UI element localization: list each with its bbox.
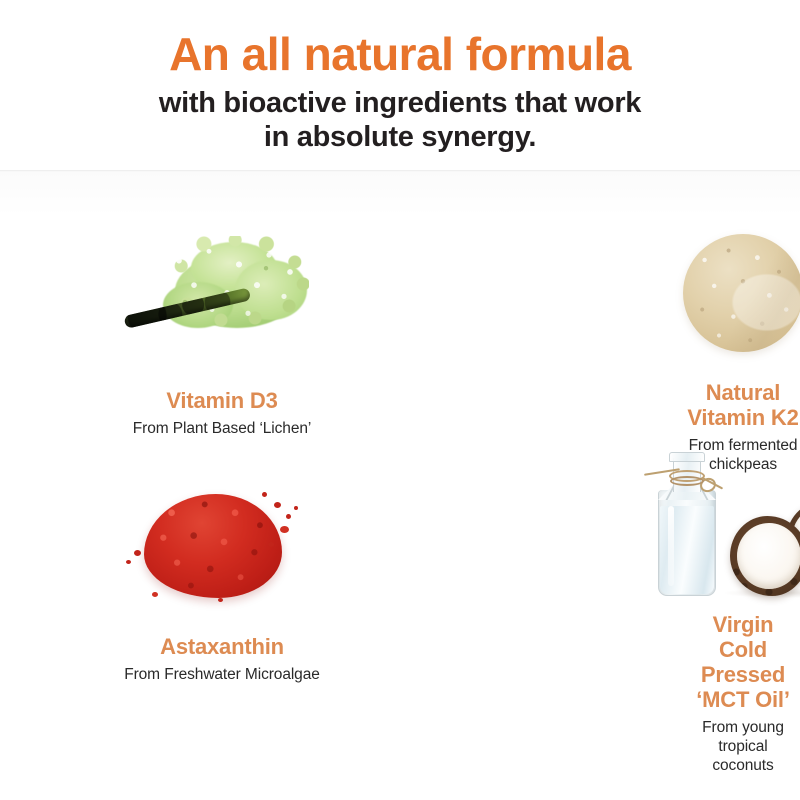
header-section: An all natural formula with bioactive in… bbox=[0, 0, 800, 170]
page-subtitle-line-1: with bioactive ingredients that work bbox=[0, 86, 800, 120]
ingredient-caption: From Freshwater Microalgae bbox=[124, 666, 320, 685]
ingredient-title-line-1: Virgin Cold bbox=[686, 612, 800, 662]
astaxanthin-powder-icon bbox=[117, 472, 327, 612]
ingredient-card-astaxanthin: Astaxanthin From Freshwater Microalgae bbox=[0, 432, 400, 682]
ingredient-caption: From young tropical coconuts bbox=[686, 719, 800, 775]
page-title: An all natural formula bbox=[0, 30, 800, 80]
ingredient-title: Natural Vitamin K2 bbox=[686, 380, 800, 430]
page-subtitle: with bioactive ingredients that work in … bbox=[0, 86, 800, 154]
chickpea-powder-icon bbox=[638, 234, 800, 362]
ingredient-title-line-2: Pressed ‘MCT Oil’ bbox=[686, 662, 800, 712]
mct-oil-bottle-icon bbox=[638, 442, 800, 600]
ingredient-card-mct-oil: Virgin Cold Pressed ‘MCT Oil’ From young… bbox=[400, 432, 800, 682]
ingredient-grid: Vitamin D3 From Plant Based ‘Lichen’ Nat… bbox=[0, 182, 800, 800]
ingredient-card-vitamin-d3: Vitamin D3 From Plant Based ‘Lichen’ bbox=[0, 182, 400, 432]
page-subtitle-line-2: in absolute synergy. bbox=[0, 120, 800, 154]
glass-carafe bbox=[656, 444, 718, 596]
ingredient-card-vitamin-k2: Natural Vitamin K2 From fermented chickp… bbox=[400, 182, 800, 432]
ingredient-title: Astaxanthin bbox=[160, 634, 284, 659]
ingredient-title: Virgin Cold Pressed ‘MCT Oil’ bbox=[686, 612, 800, 712]
lichen-icon bbox=[117, 230, 327, 370]
ingredients-infographic-page: An all natural formula with bioactive in… bbox=[0, 0, 800, 800]
coconut-half-front bbox=[730, 516, 800, 596]
ingredient-title: Vitamin D3 bbox=[166, 388, 277, 413]
